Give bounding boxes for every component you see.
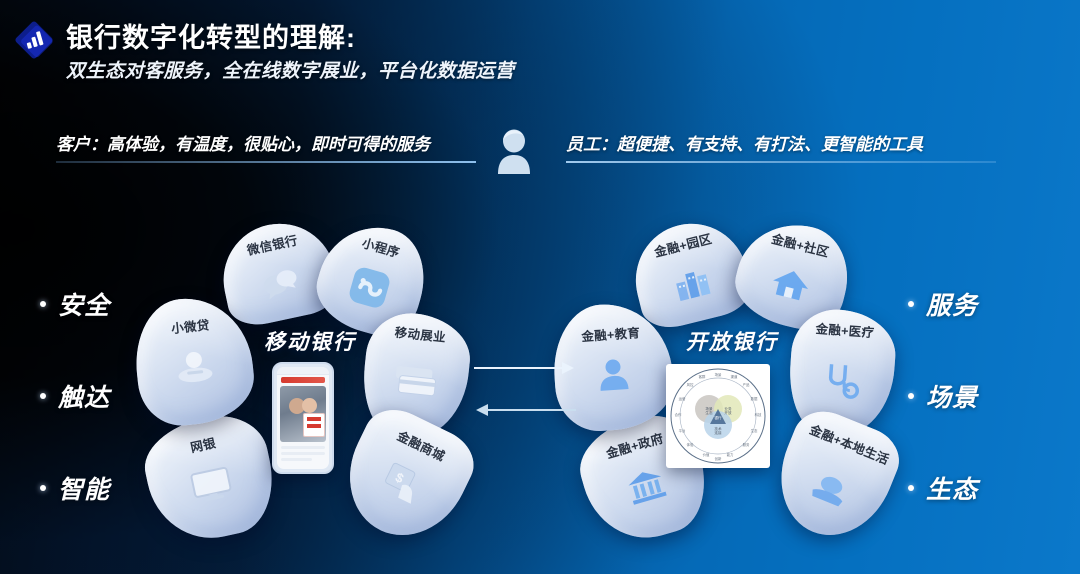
svg-text:场景: 场景 — [715, 372, 722, 377]
petal-label: 金融+园区 — [627, 225, 739, 267]
customer-banner-text: 客户：高体验，有温度，很贴心，即时可得的服务 — [56, 130, 476, 161]
rhombus-bars-logo — [12, 18, 56, 62]
svg-text:数据: 数据 — [751, 396, 758, 401]
petal-label: 金融+社区 — [745, 226, 856, 268]
mini-program-icon — [343, 263, 394, 317]
left-keyword-label: 智能 — [58, 470, 110, 506]
government-building-icon — [623, 465, 672, 512]
cluster-center-title: 开放银行 — [542, 326, 922, 356]
right-keyword-label: 服务 — [926, 286, 978, 322]
svg-text:生态: 生态 — [751, 428, 758, 433]
mobile-bank-cluster: 微信银行 小程序 移动展业 — [120, 222, 500, 542]
svg-text:客群: 客群 — [699, 374, 706, 379]
local-life-icon — [804, 465, 856, 516]
employee-banner-rule — [566, 161, 996, 163]
petal-label: 金融商城 — [365, 415, 476, 480]
chat-bubbles-icon — [258, 266, 304, 309]
audience-banner: 客户：高体验，有温度，很贴心，即时可得的服务 员工：超便捷、有支持、有打法、更智… — [0, 126, 1080, 178]
svg-text:创新: 创新 — [715, 456, 722, 461]
svg-text:业务开放: 业务开放 — [724, 406, 732, 415]
petal-finance-mall[interactable]: 金融商城 $ — [328, 399, 484, 556]
page-subtitle: 双生态对客服务，全在线数字展业，平台化数据运营 — [66, 56, 515, 83]
bank-card-icon — [391, 362, 439, 405]
svg-text:产品: 产品 — [743, 382, 750, 387]
customer-banner-rule — [56, 161, 476, 163]
arrow-left-icon — [476, 404, 576, 416]
bullet-dot-icon — [40, 393, 46, 399]
mobile-app-phone-mockup — [272, 362, 334, 474]
education-person-icon — [593, 357, 634, 399]
bullet-dot-icon — [40, 301, 46, 307]
user-avatar-icon — [492, 128, 536, 174]
petal-label: 金融+本地生活 — [807, 422, 897, 471]
cluster-connector — [470, 358, 580, 424]
stethoscope-icon — [821, 361, 862, 409]
svg-text:风控: 风控 — [687, 382, 694, 387]
bullet-dot-icon — [40, 485, 46, 491]
arrow-right-icon — [474, 362, 574, 374]
petal-label: 微信银行 — [216, 227, 329, 266]
monitor-icon — [187, 464, 236, 511]
list-item: 安全 — [40, 286, 110, 322]
list-item: 触达 — [40, 378, 110, 414]
svg-text:场景生态: 场景生态 — [705, 406, 713, 415]
svg-text:价值: 价值 — [703, 452, 710, 457]
slide-canvas: 银行数字化转型的理解: 双生态对客服务，全在线数字展业，平台化数据运营 客户：高… — [0, 0, 1080, 574]
cluster-center-title: 移动银行 — [120, 326, 500, 356]
left-keyword-label: 触达 — [58, 378, 110, 414]
svg-text:运营: 运营 — [679, 396, 686, 401]
list-item: 智能 — [40, 470, 110, 506]
petal-label: 小程序 — [328, 227, 432, 271]
svg-text:体验: 体验 — [687, 442, 694, 447]
svg-text:合作: 合作 — [675, 412, 682, 417]
svg-text:银行: 银行 — [714, 415, 722, 420]
left-keyword-label: 安全 — [58, 286, 110, 322]
venn-ecosystem-diagram: 场景渠道 客群产品 风控数据 运营科技 合作生态 平台服务 体验能力 价值创新 … — [666, 364, 770, 468]
right-keyword-label: 场景 — [926, 378, 978, 414]
right-keyword-label: 生态 — [926, 470, 978, 506]
page-title: 银行数字化转型的理解: — [66, 16, 356, 55]
left-keyword-list: 安全 触达 智能 — [40, 286, 110, 562]
open-bank-cluster: 金融+园区 金融+社区 — [542, 222, 922, 542]
svg-text:服务: 服务 — [743, 442, 750, 447]
svg-text:科技: 科技 — [755, 412, 762, 417]
svg-text:技术连接: 技术连接 — [714, 426, 722, 435]
svg-text:能力: 能力 — [727, 452, 734, 457]
svg-text:平台: 平台 — [679, 428, 686, 433]
customer-banner: 客户：高体验，有温度，很贴心，即时可得的服务 — [56, 130, 476, 163]
dollar-shop-icon: $ — [375, 458, 429, 512]
buildings-icon — [669, 263, 716, 307]
petal-internet-bank[interactable]: 网银 — [137, 406, 283, 549]
petal-label: 网银 — [141, 426, 266, 467]
employee-banner: 员工：超便捷、有支持、有打法、更智能的工具 — [566, 130, 996, 163]
svg-text:渠道: 渠道 — [731, 374, 738, 379]
employee-banner-text: 员工：超便捷、有支持、有打法、更智能的工具 — [566, 130, 996, 155]
house-icon — [766, 263, 814, 309]
petal-finance-local-life[interactable]: 金融+本地生活 — [762, 402, 908, 553]
